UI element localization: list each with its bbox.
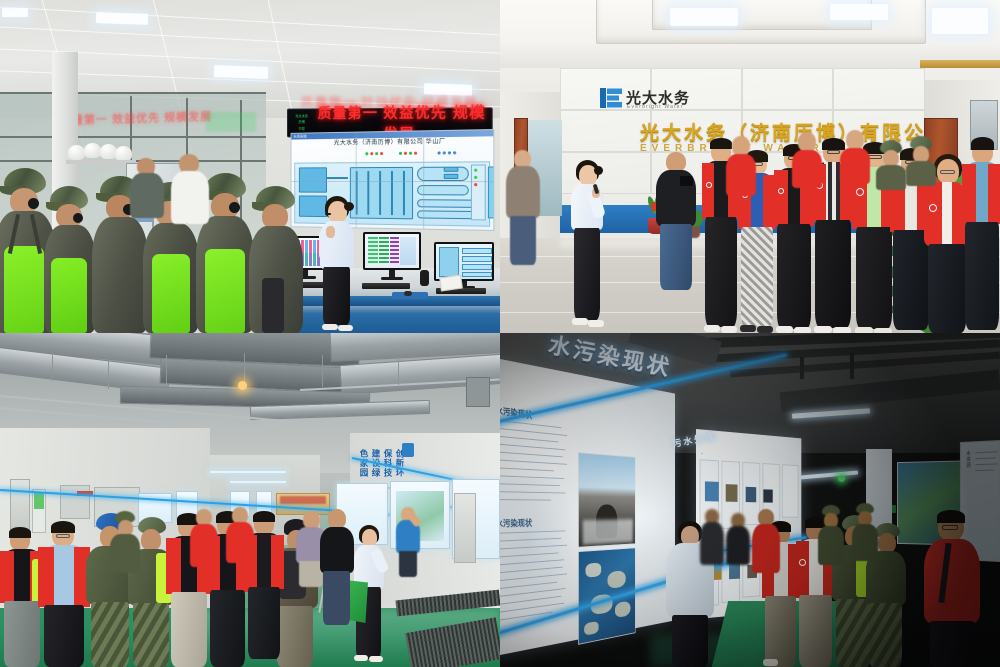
panel-control-room: 质量第一 效益优先 规模发展 质量第一 效益优先 规模发展 光大水务 历博 中控… xyxy=(0,0,500,333)
ceiling-light xyxy=(2,8,28,17)
photographer xyxy=(656,152,696,290)
ceiling-light xyxy=(830,4,888,20)
distant-visitor xyxy=(726,513,750,565)
student-back-row xyxy=(840,130,870,184)
student-back-row xyxy=(726,136,756,196)
drawstring-bag xyxy=(152,254,190,333)
vest-emblem xyxy=(706,182,712,188)
vest-emblem xyxy=(778,188,784,194)
staff-presenter xyxy=(396,507,420,577)
guide-person xyxy=(316,196,360,333)
student-red-vest xyxy=(38,523,90,667)
staff-member xyxy=(320,509,354,625)
ceiling-trim xyxy=(920,60,1000,68)
student-red-vest xyxy=(962,140,1000,333)
exhibit-photo-coastline xyxy=(578,452,635,547)
door[interactable] xyxy=(454,493,476,563)
exit-indicator xyxy=(838,475,845,482)
photo-collage: 质量第一 效益优先 规模发展 质量第一 效益优先 规模发展 光大水务 历博 中控… xyxy=(0,0,1000,667)
drawstring-bag xyxy=(205,249,245,333)
panel-lobby: 光大水务 Everbright Water 光大水务（济南历博）有限公司 EVE… xyxy=(500,0,1000,333)
vest-emblem xyxy=(799,559,806,566)
student-back-row xyxy=(792,132,822,188)
vest-emblem xyxy=(856,188,864,196)
vest-emblem xyxy=(929,204,937,212)
drawstring-bag xyxy=(4,246,44,333)
panel-exhibition: 水污染现状 水污染现状 xyxy=(500,333,1000,667)
crowd-member xyxy=(226,507,254,563)
logo-text-en: Everbright Water xyxy=(627,104,684,110)
mouse[interactable] xyxy=(404,291,412,296)
scada-title: 光大水务（济南历博）有限公司 华山厂 xyxy=(292,136,494,150)
student-camouflage xyxy=(876,140,906,190)
crowd-member xyxy=(190,509,218,567)
equipment-case xyxy=(262,278,284,333)
eyeglasses xyxy=(827,150,840,154)
crowd-member xyxy=(752,509,780,573)
monitor-process[interactable] xyxy=(434,242,494,281)
monitor-overview[interactable] xyxy=(363,232,421,270)
student-camouflage xyxy=(906,136,936,186)
crowd-member xyxy=(110,511,140,573)
guide-person xyxy=(568,160,608,333)
panel-corridor: 创新环保科技 建设绿色家园 Innovative Environmental T… xyxy=(0,333,500,667)
fluorescent-tube xyxy=(800,470,858,479)
led-side-rows: 光大水务 历博 中控 xyxy=(291,113,313,132)
distant-visitor xyxy=(700,509,724,565)
status-indicator xyxy=(34,493,44,509)
ceiling-lamp xyxy=(238,381,247,390)
desk-microphone xyxy=(420,270,429,286)
drawstring-bag xyxy=(51,258,87,333)
camera xyxy=(680,176,693,186)
electrical-box xyxy=(466,377,490,407)
crowd-member xyxy=(852,503,878,561)
staff-red-polo xyxy=(924,513,980,667)
exhibition-light-wall: 水污染现状 水污染现状 xyxy=(500,357,675,657)
headset-mic xyxy=(325,213,331,215)
bystander xyxy=(506,150,540,265)
crowd-member xyxy=(818,505,844,565)
visitor xyxy=(44,186,96,333)
exhibit-photo-satellite xyxy=(578,547,635,644)
everbright-logo-icon xyxy=(600,88,622,108)
ceiling-light xyxy=(96,12,148,25)
ceiling-light xyxy=(932,8,988,34)
ceiling-light xyxy=(214,65,268,79)
eyeglasses xyxy=(56,534,70,538)
visitor-background xyxy=(171,154,209,224)
visitor-background xyxy=(130,158,164,218)
eyeglasses xyxy=(940,170,955,174)
eyeglasses xyxy=(942,525,958,530)
person-pictogram-icon xyxy=(402,443,414,457)
ceiling-light xyxy=(670,8,738,26)
keyboard[interactable] xyxy=(362,283,410,289)
